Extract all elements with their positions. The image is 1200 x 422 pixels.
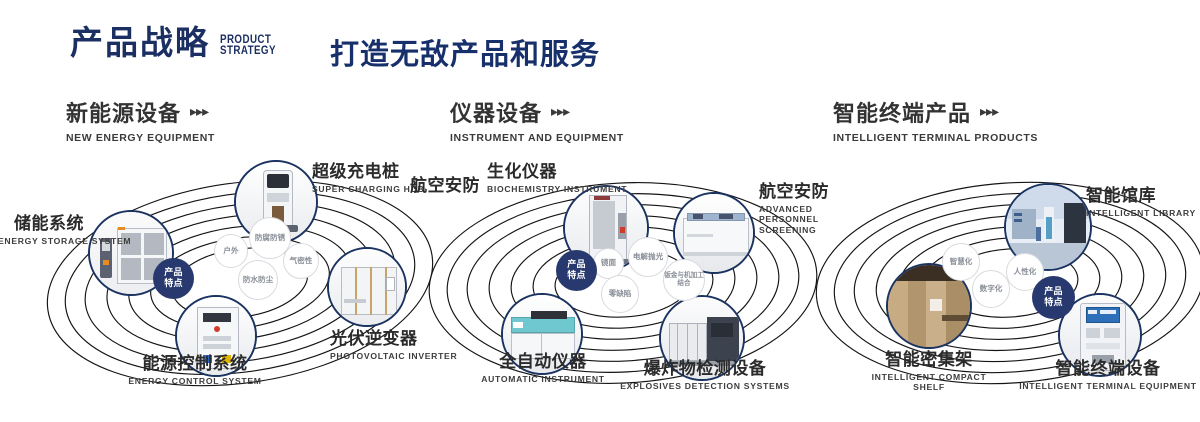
feature-bubble: 钣金与机加工结合 — [663, 259, 705, 301]
section-title-text: 新能源设备 — [66, 96, 181, 128]
label-intelligent-terminal-equipment: 智能终端设备 INTELLIGENT TERMINAL EQUIPMENT — [1008, 360, 1200, 391]
brand-title-cn: 产品战略 — [70, 26, 210, 59]
node-label-cn: 航空安防 — [410, 177, 480, 196]
node-label-en: BIOCHEMISTRY INSTRUMENT — [487, 184, 587, 195]
node-label-en: ENERGY STORAGE SYSTEM — [0, 236, 84, 247]
label-energy-control-system: 能源控制系统 ENERGY CONTROL SYSTEM — [85, 355, 305, 386]
label-intelligent-compact-shelf: 智能密集架 INTELLIGENT COMPACT SHELF — [838, 351, 1020, 393]
section-title-en: INSTRUMENT AND EQUIPMENT — [450, 132, 624, 144]
chevron-right-icon: ▸▸▸ — [980, 104, 998, 120]
node-label-cn: 全自动仪器 — [460, 353, 626, 372]
node-label-en: INTELLIGENT COMPACT SHELF — [864, 372, 994, 393]
section-title-text: 智能终端产品 — [833, 96, 971, 128]
label-energy-storage-system: 储能系统 ENERGY STORAGE SYSTEM — [0, 215, 84, 246]
brand-title-en: PRODUCT STRATEGY — [220, 35, 276, 57]
node-label-en: INTELLIGENT LIBRARY — [1086, 208, 1196, 219]
label-super-charging-hub: 超级充电桩 SUPER CHARGING HUB — [312, 163, 424, 194]
node-label-cn: 生化仪器 — [487, 163, 587, 182]
badge-line2: 特点 — [567, 271, 586, 281]
node-label-en: ENERGY CONTROL SYSTEM — [85, 376, 305, 387]
product-feature-badge: 产品 特点 — [153, 258, 194, 299]
label-automatic-instrument: 全自动仪器 AUTOMATIC INSTRUMENT — [460, 353, 626, 384]
node-label-cn: 超级充电桩 — [312, 163, 424, 182]
node-label-cn: 爆炸物检测设备 — [615, 360, 795, 379]
feature-bubble: 零缺陷 — [601, 275, 639, 313]
section-title-en: NEW ENERGY EQUIPMENT — [66, 132, 215, 144]
section-heading-instrument: 仪器设备 ▸▸▸ INSTRUMENT AND EQUIPMENT — [450, 96, 624, 144]
label-intelligent-library: 智能馆库 INTELLIGENT LIBRARY — [1086, 187, 1196, 218]
feature-bubble: 智慧化 — [942, 243, 980, 281]
brand-title-en-line2: STRATEGY — [220, 46, 276, 57]
brand-header: 产品战略 PRODUCT STRATEGY — [70, 26, 286, 59]
node-photovoltaic-inverter[interactable] — [327, 247, 407, 327]
product-feature-badge: 产品 特点 — [1032, 276, 1075, 319]
chevron-right-icon: ▸▸▸ — [551, 104, 569, 120]
photovoltaic-inverter-photo — [329, 249, 405, 325]
section-title-text: 仪器设备 — [450, 96, 542, 128]
feature-bubble: 数字化 — [972, 270, 1010, 308]
chevron-right-icon: ▸▸▸ — [190, 104, 208, 120]
section-heading-intelligent-terminal: 智能终端产品 ▸▸▸ INTELLIGENT TERMINAL PRODUCTS — [833, 96, 1038, 144]
page-headline: 打造无敌产品和服务 — [330, 31, 600, 73]
node-label-cn: 储能系统 — [0, 215, 84, 234]
infographic-page: 产品战略 PRODUCT STRATEGY 打造无敌产品和服务 新能源设备 ▸▸… — [0, 0, 1200, 422]
feature-bubble: 防水防尘 — [238, 260, 278, 300]
node-label-cn: 智能馆库 — [1086, 187, 1196, 206]
label-biochemistry-instrument: 生化仪器 BIOCHEMISTRY INSTRUMENT — [487, 163, 587, 194]
product-feature-badge: 产品 特点 — [556, 250, 597, 291]
badge-line1: 产品 — [164, 268, 183, 278]
node-label-cn: 智能终端设备 — [1008, 360, 1200, 379]
badge-line2: 特点 — [1044, 298, 1063, 308]
section-title-cn: 新能源设备 ▸▸▸ — [66, 96, 215, 128]
section-title-cn: 仪器设备 ▸▸▸ — [450, 96, 624, 128]
node-label-cn: 智能密集架 — [838, 351, 1020, 370]
cluster-new-energy: 储能系统 ENERGY STORAGE SYSTEM 超级充电桩 SUPER C… — [40, 155, 440, 405]
badge-line2: 特点 — [164, 279, 183, 289]
cluster-instrument: 航空安防 生化仪器 BIOCHEMISTRY INSTRUMENT — [425, 155, 825, 405]
badge-line1: 产品 — [1044, 287, 1063, 297]
cluster-intelligent-terminal: 智能馆库 INTELLIGENT LIBRARY 智能密集架 INTELLIGE… — [810, 155, 1200, 405]
node-label-en: INTELLIGENT TERMINAL EQUIPMENT — [1008, 381, 1200, 392]
node-label-en: SUPER CHARGING HUB — [312, 184, 424, 195]
section-title-cn: 智能终端产品 ▸▸▸ — [833, 96, 1038, 128]
section-title-en: INTELLIGENT TERMINAL PRODUCTS — [833, 132, 1038, 144]
label-aviation-security: 航空安防 — [410, 177, 480, 196]
section-heading-new-energy: 新能源设备 ▸▸▸ NEW ENERGY EQUIPMENT — [66, 96, 215, 144]
feature-bubble: 电解抛光 — [628, 237, 668, 277]
node-label-cn: 能源控制系统 — [85, 355, 305, 374]
node-label-en: AUTOMATIC INSTRUMENT — [460, 374, 626, 385]
feature-bubble: 户外 — [214, 234, 248, 268]
badge-line1: 产品 — [567, 260, 586, 270]
node-label-en: EXPLOSIVES DETECTION SYSTEMS — [615, 381, 795, 392]
label-explosives-detection: 爆炸物检测设备 EXPLOSIVES DETECTION SYSTEMS — [615, 360, 795, 391]
feature-bubble: 气密性 — [283, 243, 319, 279]
